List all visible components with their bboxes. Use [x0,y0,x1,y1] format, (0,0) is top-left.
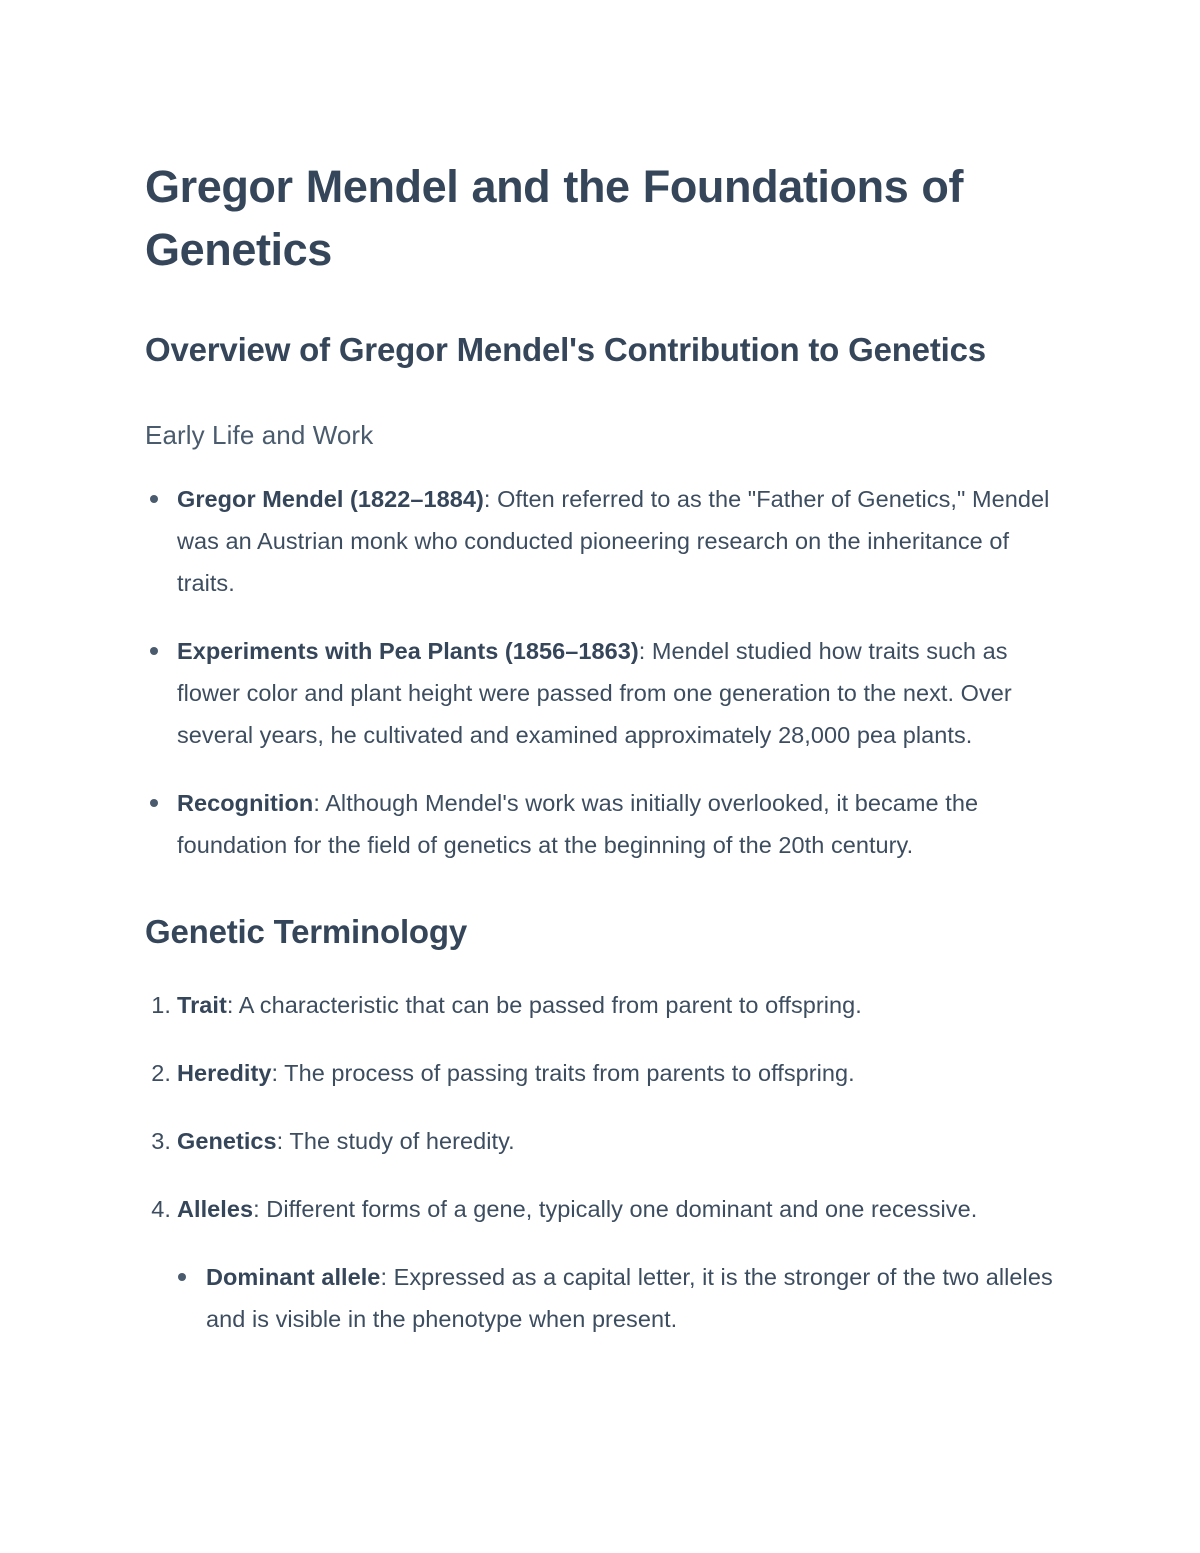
section-heading-genetic-terminology: Genetic Terminology [145,906,1060,958]
list-item: Recognition: Although Mendel's work was … [145,782,1060,866]
list-item-text: The study of heredity. [283,1128,515,1154]
list-item-term: Experiments with Pea Plants (1856–1863) [177,638,639,664]
list-item: Experiments with Pea Plants (1856–1863):… [145,630,1060,756]
genetic-terminology-list: 1. Trait: A characteristic that can be p… [145,984,1060,1340]
list-item: 4. Alleles: Different forms of a gene, t… [145,1188,1060,1340]
list-item-term: Alleles [177,1196,253,1222]
section-heading-overview: Overview of Gregor Mendel's Contribution… [145,321,1060,378]
list-item-marker: 1. [145,984,171,1026]
list-item-term: Genetics [177,1128,277,1154]
sub-heading-early-life-and-work: Early Life and Work [145,418,1060,452]
list-item: Gregor Mendel (1822–1884): Often referre… [145,478,1060,604]
document-page: Gregor Mendel and the Foundations of Gen… [0,0,1200,1553]
list-item-marker: 3. [145,1120,171,1162]
bullet-dot-icon [150,495,158,503]
list-item-text: A characteristic that can be passed from… [233,992,861,1018]
bullet-dot-icon [150,647,158,655]
document-body: Gregor Mendel and the Foundations of Gen… [145,155,1060,1340]
list-item-term: Gregor Mendel (1822–1884) [177,486,484,512]
list-item: 1. Trait: A characteristic that can be p… [145,984,1060,1026]
alleles-sub-bullet-list: Dominant allele: Expressed as a capital … [177,1256,1060,1340]
list-item-term: Heredity [177,1060,271,1086]
list-item-marker: 2. [145,1052,171,1094]
list-item-term: Dominant allele [206,1264,380,1290]
list-item-text: Different forms of a gene, typically one… [260,1196,978,1222]
bullet-dot-icon [178,1273,186,1281]
list-item-separator: : [253,1196,260,1222]
list-item: 2. Heredity: The process of passing trai… [145,1052,1060,1094]
list-item-text: The process of passing traits from paren… [278,1060,855,1086]
list-item-term: Recognition [177,790,313,816]
bullet-dot-icon [150,799,158,807]
list-item-separator: : [313,790,320,816]
list-item-marker: 4. [145,1188,171,1230]
list-item-term: Trait [177,992,227,1018]
list-item: Dominant allele: Expressed as a capital … [177,1256,1060,1340]
page-title: Gregor Mendel and the Foundations of Gen… [145,155,1060,281]
list-item: 3. Genetics: The study of heredity. [145,1120,1060,1162]
overview-bullet-list: Gregor Mendel (1822–1884): Often referre… [145,478,1060,866]
